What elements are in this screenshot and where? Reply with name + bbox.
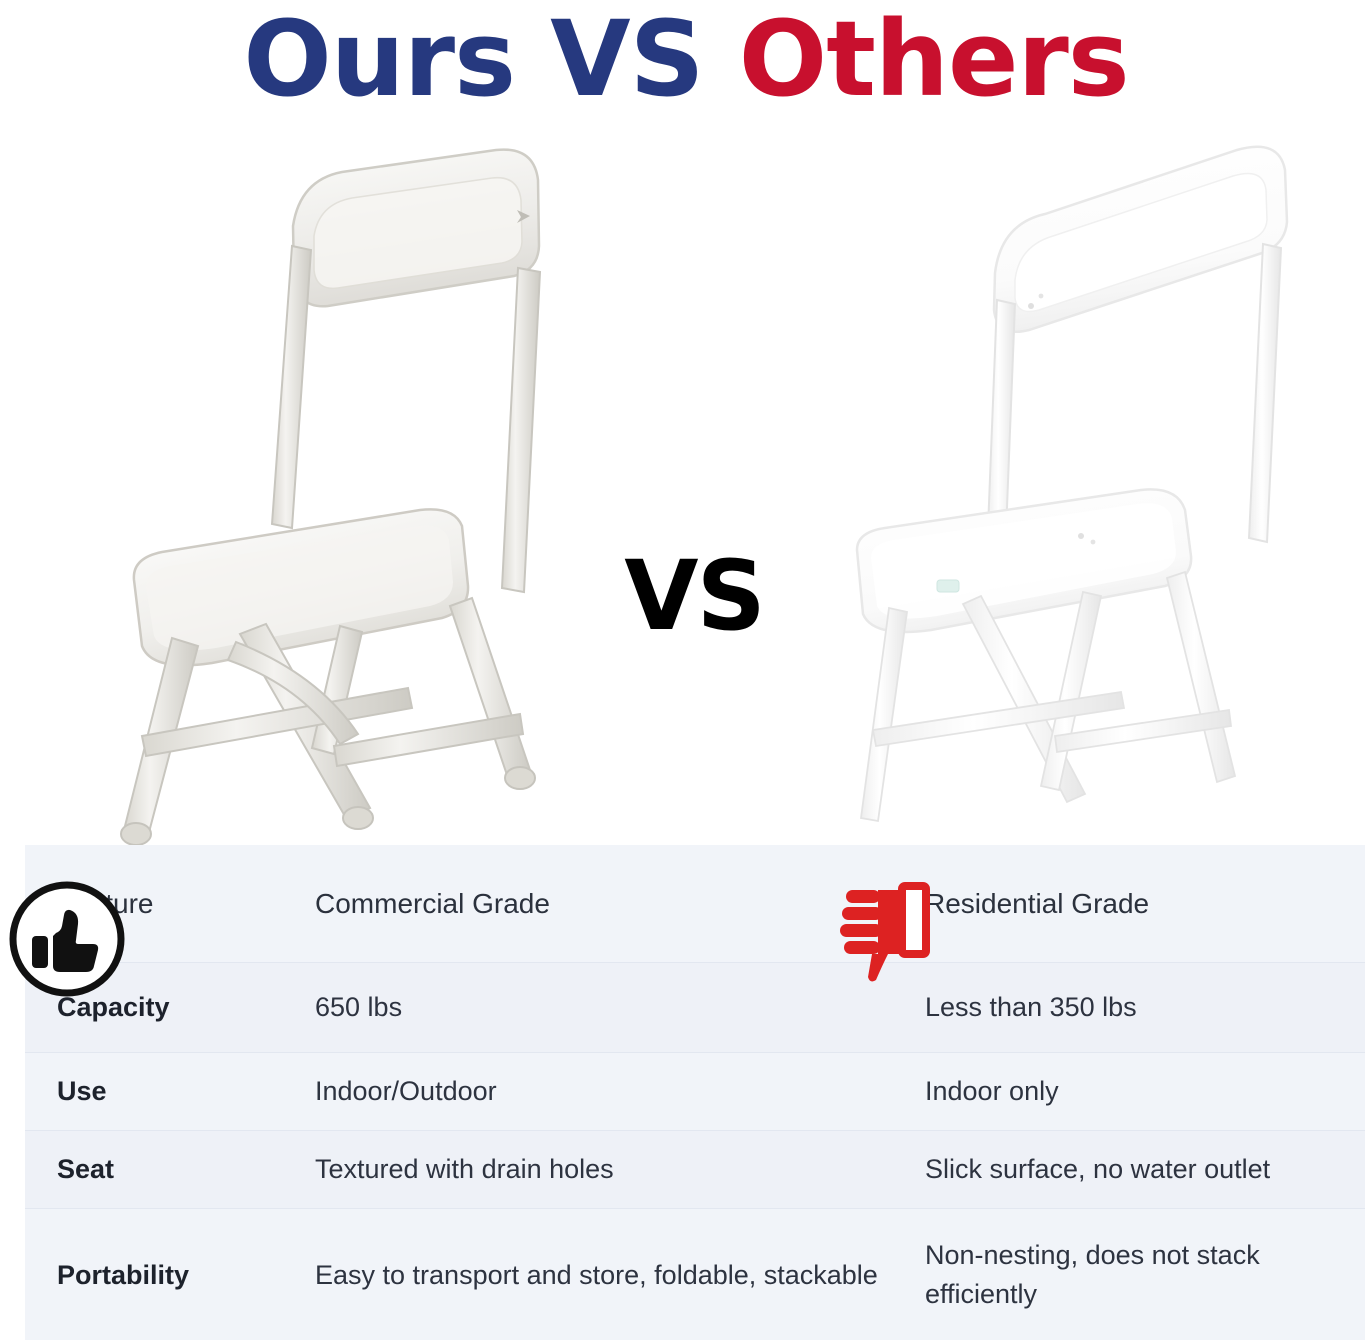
feature-label: Use xyxy=(25,1053,285,1131)
table-row: Use Indoor/Outdoor Indoor only xyxy=(25,1053,1365,1131)
residential-value: Indoor only xyxy=(897,1053,1365,1131)
commercial-value: 650 lbs xyxy=(285,963,897,1053)
table-header-row: Feature Commercial Grade Residential Gra… xyxy=(25,845,1365,963)
page-title-bar: Ours VS Others xyxy=(0,0,1372,118)
residential-value: Non-nesting, does not stack efficiently xyxy=(897,1209,1365,1340)
table-body: Capacity 650 lbs Less than 350 lbs Use I… xyxy=(25,963,1365,1340)
feature-label: Portability xyxy=(25,1209,285,1340)
product-comparison-hero: VS xyxy=(0,118,1372,853)
commercial-value: Textured with drain holes xyxy=(285,1131,897,1209)
commercial-value: Easy to transport and store, foldable, s… xyxy=(285,1209,897,1340)
page-title-others: Others xyxy=(739,0,1129,120)
feature-label: Seat xyxy=(25,1131,285,1209)
table-row: Portability Easy to transport and store,… xyxy=(25,1209,1365,1340)
commercial-chair-image xyxy=(90,118,570,853)
table-header: Feature Commercial Grade Residential Gra… xyxy=(25,845,1365,963)
commercial-value: Indoor/Outdoor xyxy=(285,1053,897,1131)
comparison-table: Feature Commercial Grade Residential Gra… xyxy=(25,845,1365,1340)
column-header-residential-grade: Residential Grade xyxy=(897,845,1365,963)
page-title-ours: Ours VS xyxy=(243,0,738,120)
table-row: Capacity 650 lbs Less than 350 lbs xyxy=(25,963,1365,1053)
thumbs-down-icon xyxy=(838,880,938,985)
table-row: Seat Textured with drain holes Slick sur… xyxy=(25,1131,1365,1209)
residential-chair-image xyxy=(845,118,1315,853)
versus-label: VS xyxy=(594,548,794,644)
residential-value: Less than 350 lbs xyxy=(897,963,1365,1053)
comparison-table-container: Feature Commercial Grade Residential Gra… xyxy=(25,845,1365,1340)
thumbs-up-icon xyxy=(8,880,126,998)
page-title: Ours VS Others xyxy=(243,7,1128,111)
residential-value: Slick surface, no water outlet xyxy=(897,1131,1365,1209)
column-header-commercial-grade: Commercial Grade xyxy=(285,845,897,963)
